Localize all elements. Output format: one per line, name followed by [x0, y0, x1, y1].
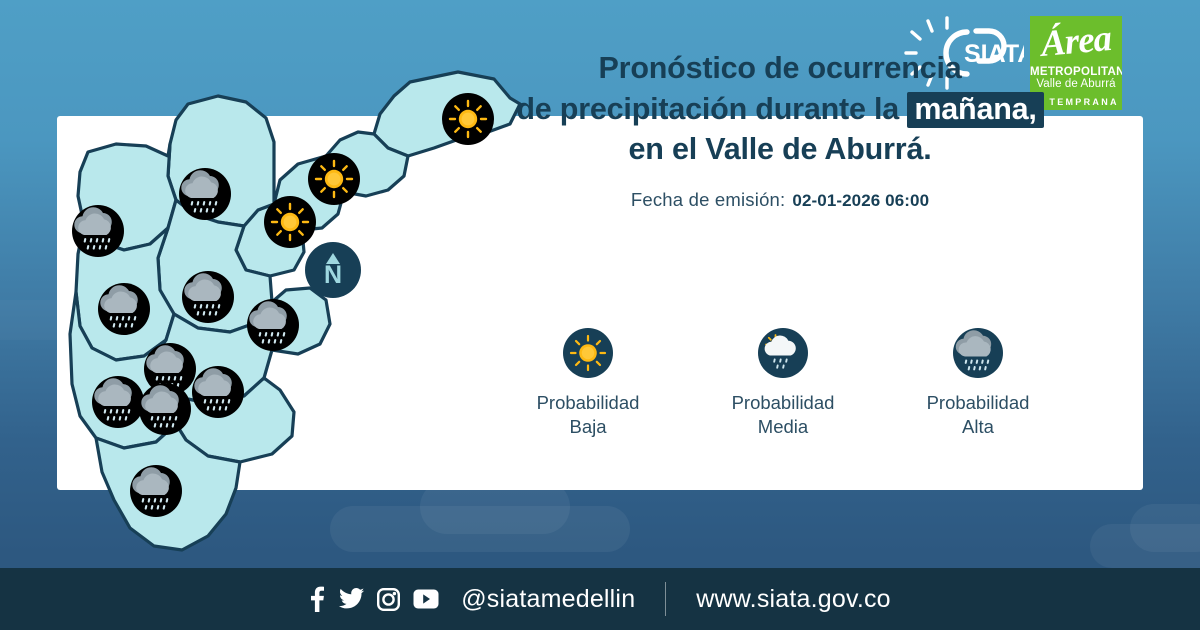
- compass-north-icon: N: [305, 242, 361, 298]
- legend-item-alta: Probabilidad Alta: [888, 328, 1068, 440]
- map-marker-cloud-rain: [139, 383, 191, 435]
- title-line-3: en el Valle de Aburrá.: [629, 132, 932, 166]
- legend-label-line1: Probabilidad: [732, 392, 835, 413]
- sun-icon: [563, 328, 613, 378]
- legend-label-line2: Alta: [962, 416, 994, 437]
- cloud-rain-icon: [953, 328, 1003, 378]
- title-line-2-prefix: de precipitación durante la: [516, 92, 907, 126]
- social-handle[interactable]: @siatamedellin: [461, 585, 635, 614]
- youtube-icon[interactable]: [413, 589, 439, 609]
- map-marker-cloud-rain: [130, 465, 182, 517]
- map-marker-cloud-rain: [179, 168, 231, 220]
- title-highlight-period: mañana,: [907, 92, 1043, 128]
- background-cloud-decoration: [1130, 504, 1200, 552]
- legend-label-alta: Probabilidad Alta: [888, 391, 1068, 440]
- footer-divider: [665, 582, 666, 616]
- forecast-text-block: Pronóstico de ocurrencia de precipitació…: [480, 48, 1080, 211]
- legend-item-baja: Probabilidad Baja: [498, 328, 678, 440]
- map-marker-cloud-rain: [92, 376, 144, 428]
- map-marker-cloud-rain: [72, 205, 124, 257]
- map-marker-cloud-rain: [192, 366, 244, 418]
- map-marker-cloud-rain: [98, 283, 150, 335]
- legend-item-media: Probabilidad Media: [693, 328, 873, 440]
- social-icon-group: [309, 586, 439, 612]
- facebook-icon[interactable]: [309, 586, 326, 612]
- emission-date-label: Fecha de emisión:: [631, 189, 786, 211]
- sun-cloud-rain-icon: [758, 328, 808, 378]
- map-marker-cloud-rain: [182, 271, 234, 323]
- compass-label: N: [324, 261, 342, 289]
- page-title: Pronóstico de ocurrencia de precipitació…: [480, 48, 1080, 170]
- legend-label-media: Probabilidad Media: [693, 391, 873, 440]
- probability-legend: Probabilidad Baja: [498, 328, 1068, 440]
- map-marker-sun: [264, 196, 316, 248]
- emission-date-value: 02-01-2026 06:00: [792, 191, 929, 211]
- valle-de-aburra-map: N: [58, 44, 528, 574]
- twitter-icon[interactable]: [339, 588, 364, 610]
- legend-label-baja: Probabilidad Baja: [498, 391, 678, 440]
- emission-date-row: Fecha de emisión: 02-01-2026 06:00: [480, 189, 1080, 211]
- legend-label-line1: Probabilidad: [537, 392, 640, 413]
- legend-label-line1: Probabilidad: [927, 392, 1030, 413]
- title-line-1: Pronóstico de ocurrencia: [599, 51, 962, 85]
- legend-label-line2: Baja: [569, 416, 606, 437]
- instagram-icon[interactable]: [377, 588, 400, 611]
- infographic-root: SIATA Área METROPOLITANA Valle de Aburrá…: [0, 0, 1200, 630]
- map-marker-cloud-rain: [247, 299, 299, 351]
- website-url[interactable]: www.siata.gov.co: [696, 585, 890, 614]
- legend-label-line2: Media: [758, 416, 808, 437]
- map-marker-sun: [308, 153, 360, 205]
- footer-bar: @siatamedellin www.siata.gov.co: [0, 568, 1200, 630]
